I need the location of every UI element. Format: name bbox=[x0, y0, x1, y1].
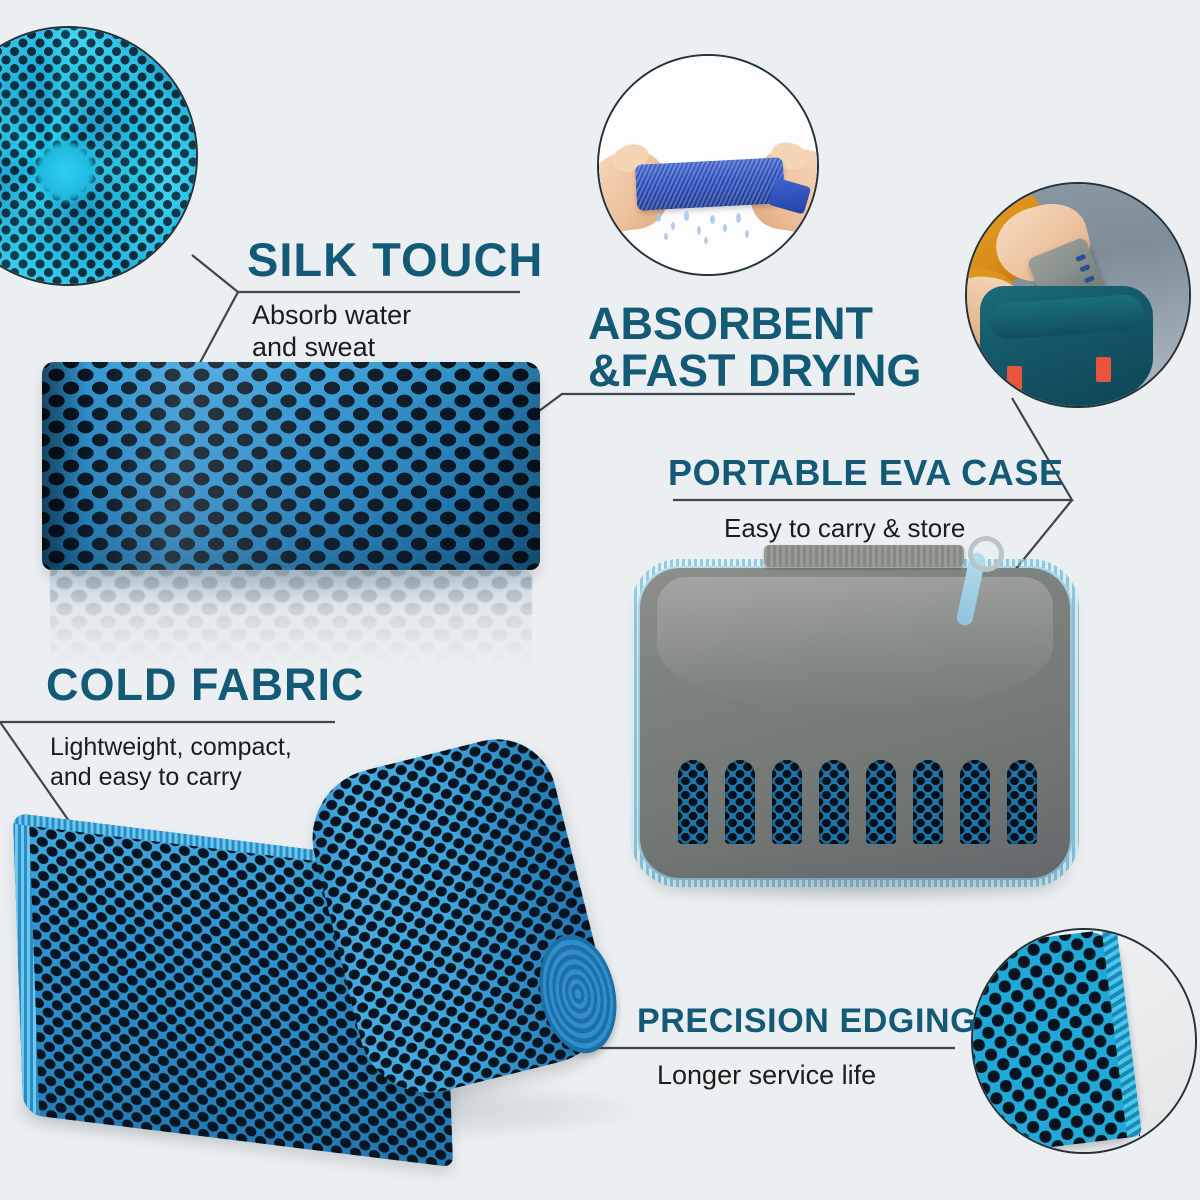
feature-caption-silk-touch: Absorb water and sweat bbox=[252, 300, 411, 364]
feature-caption-portable-eva-case: Easy to carry & store bbox=[724, 513, 965, 544]
fabric-swirl-shading bbox=[0, 26, 198, 286]
wring-scene bbox=[599, 56, 817, 274]
backpack-scene bbox=[967, 184, 1189, 406]
water-drop bbox=[671, 222, 675, 230]
swirl-center bbox=[32, 140, 100, 202]
folded-cooling-towel-block bbox=[42, 362, 540, 570]
water-drop bbox=[723, 224, 727, 232]
water-drop bbox=[697, 226, 701, 235]
folded-towel-reflection bbox=[50, 570, 532, 666]
feature-caption-precision-edging: Longer service life bbox=[657, 1060, 876, 1092]
water-drop bbox=[704, 237, 708, 244]
water-drop bbox=[736, 213, 741, 223]
reflection-dot-pattern bbox=[50, 570, 532, 666]
infographic-canvas: SILK TOUCH Absorb water and sweat ABSORB… bbox=[0, 0, 1200, 1200]
hands-wringing-towel-photo bbox=[597, 54, 819, 276]
gray-eva-zip-case bbox=[640, 568, 1070, 878]
case-carry-handle bbox=[764, 545, 964, 567]
feature-caption-cold-fabric: Lightweight, compact, and easy to carry bbox=[50, 733, 292, 792]
case-vent-slot bbox=[725, 760, 755, 844]
case-zipper-pull-ring bbox=[968, 536, 1004, 572]
mesh-fabric-swirl-photo bbox=[0, 26, 198, 286]
stitched-fabric-edge-photo bbox=[971, 928, 1197, 1154]
water-drop bbox=[656, 213, 661, 222]
case-vent-slot bbox=[772, 760, 802, 844]
case-vent-slot bbox=[819, 760, 849, 844]
eva-case-shadow bbox=[650, 862, 1070, 902]
fabric-texture bbox=[0, 26, 198, 286]
case-vent-slot bbox=[913, 760, 943, 844]
water-drop bbox=[745, 230, 749, 238]
case-vent-slot bbox=[678, 760, 708, 844]
case-vent-slot bbox=[866, 760, 896, 844]
feature-title-precision-edging: PRECISION EDGING bbox=[637, 1004, 977, 1039]
case-vent-slot bbox=[960, 760, 990, 844]
towel-shading bbox=[42, 362, 540, 570]
backpack-orange-tab bbox=[1096, 357, 1112, 381]
feature-title-absorbent-fast-drying: ABSORBENT &FAST DRYING bbox=[588, 300, 921, 395]
water-drop bbox=[664, 233, 668, 240]
water-drop bbox=[684, 211, 689, 221]
edge-scene bbox=[973, 930, 1195, 1152]
case-gloss-highlight bbox=[657, 577, 1053, 713]
case-into-backpack-photo bbox=[965, 182, 1191, 408]
water-drop bbox=[710, 215, 715, 224]
feature-title-cold-fabric: COLD FABRIC bbox=[46, 662, 365, 708]
rolled-cooling-towel bbox=[18, 744, 638, 1124]
case-vent-slot bbox=[1007, 760, 1037, 844]
fabric-corner bbox=[971, 929, 1140, 1154]
backpack-orange-tab bbox=[1007, 366, 1023, 390]
feature-title-silk-touch: SILK TOUCH bbox=[247, 236, 543, 284]
wrung-towel bbox=[635, 157, 785, 210]
feature-title-portable-eva-case: PORTABLE EVA CASE bbox=[668, 455, 1064, 492]
